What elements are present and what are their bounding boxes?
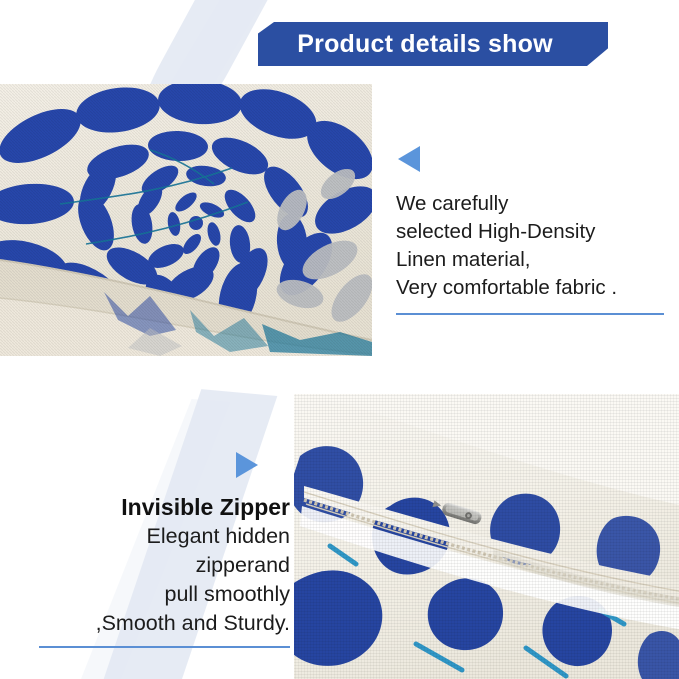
fabric-divider	[396, 313, 664, 315]
zipper-copy-line: ,Smooth and Sturdy.	[22, 609, 290, 638]
fabric-photo	[0, 84, 372, 356]
zipper-copy-line: pull smoothly	[22, 580, 290, 609]
triangle-left-icon	[398, 146, 420, 172]
fabric-photo-illustration	[0, 84, 372, 356]
zipper-text-block: Invisible Zipper Elegant hidden zipperan…	[22, 452, 290, 648]
fabric-text-block: We carefully selected High-Density Linen…	[396, 146, 668, 315]
zipper-photo	[294, 394, 679, 679]
zipper-copy: Elegant hidden zipperand pull smoothly ,…	[22, 522, 290, 638]
fabric-copy-line: selected High-Density	[396, 218, 668, 246]
page-title: Product details show	[297, 30, 568, 59]
zipper-divider	[39, 646, 290, 648]
fabric-copy-line: Very comfortable fabric .	[396, 274, 668, 302]
fabric-copy-line: Linen material,	[396, 246, 668, 274]
zipper-copy-line: Elegant hidden	[22, 522, 290, 551]
zipper-heading: Invisible Zipper	[22, 492, 290, 522]
zipper-photo-illustration	[294, 394, 679, 679]
fabric-copy-line: We carefully	[396, 190, 668, 218]
page-title-banner: Product details show	[258, 22, 608, 66]
product-detail-page: Product details show	[0, 0, 679, 679]
zipper-copy-line: zipperand	[22, 551, 290, 580]
fabric-copy: We carefully selected High-Density Linen…	[396, 190, 668, 302]
triangle-right-icon	[236, 452, 258, 478]
zipper-arrow-wrap	[22, 452, 290, 478]
